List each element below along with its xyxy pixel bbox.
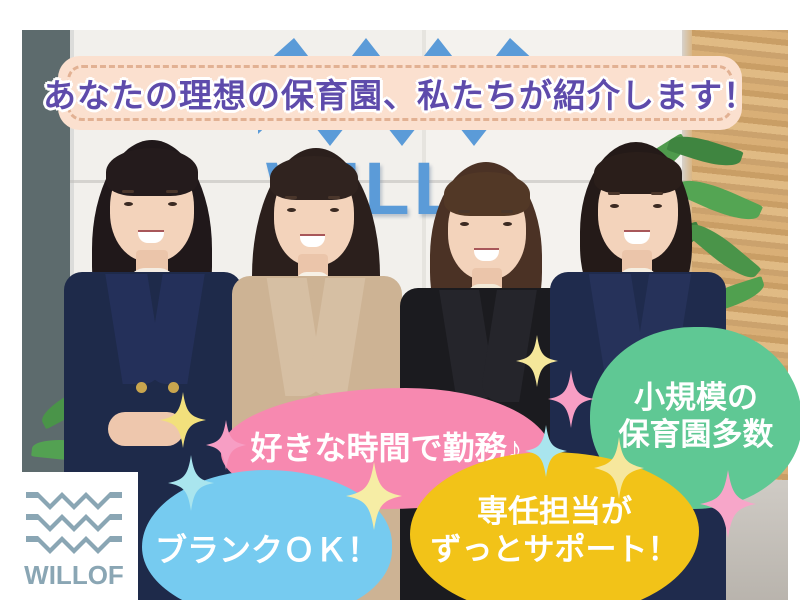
bubble-dedicated-support-line1: 専任担当が bbox=[477, 494, 632, 529]
sparkle-yellow-icon bbox=[346, 462, 402, 530]
bubble-dedicated-support-text: 専任担当が ずっとサポート！ bbox=[431, 493, 679, 567]
sparkle-pink-icon bbox=[700, 470, 756, 538]
recruitment-poster: WILL bbox=[0, 0, 800, 600]
brand-logo-badge: WILLOF bbox=[10, 472, 138, 600]
bubble-dedicated-support-line2: ずっとサポート！ bbox=[431, 532, 679, 567]
sparkle-yellow-icon bbox=[160, 392, 206, 448]
headline-banner-text: あなたの理想の保育園、私たちが紹介します！ bbox=[58, 56, 742, 130]
sparkle-yellow-icon bbox=[594, 437, 644, 499]
bubble-small-nurseries-line1: 小規模の bbox=[634, 380, 758, 415]
willof-zigzag-icon bbox=[26, 492, 122, 554]
bubble-career-gap-ok-text: ブランクＯＫ！ bbox=[155, 531, 379, 569]
sparkle-cyan-icon bbox=[168, 455, 214, 511]
headline-banner: あなたの理想の保育園、私たちが紹介します！ bbox=[58, 56, 742, 130]
brand-logo-wordmark: WILLOF bbox=[10, 560, 138, 591]
sparkle-pink-icon bbox=[548, 370, 594, 428]
sparkle-cyan-icon bbox=[525, 425, 567, 477]
